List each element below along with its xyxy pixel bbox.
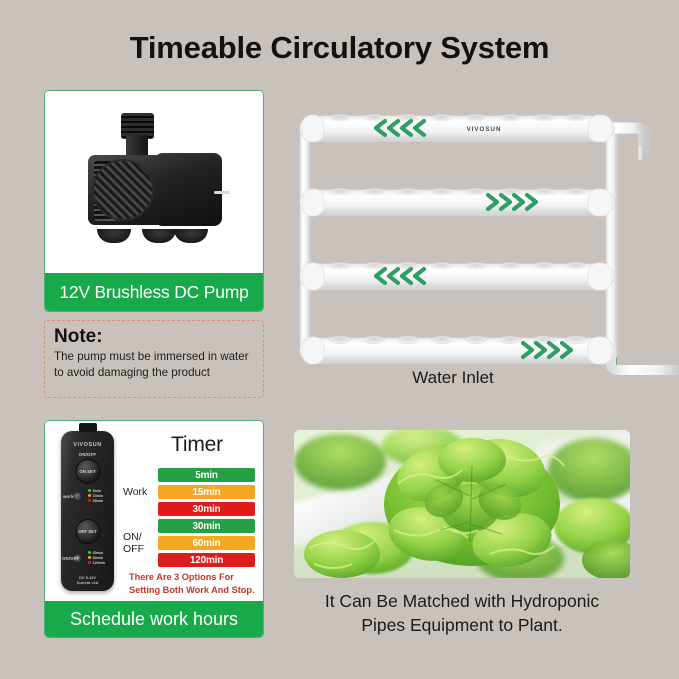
pump-power-cord xyxy=(214,191,230,194)
timer-option-badge: 30min xyxy=(158,519,255,533)
note-box: Note: The pump must be immersed in water… xyxy=(44,320,264,398)
pump-suction-cup xyxy=(174,229,208,243)
led-red-dot xyxy=(88,561,91,564)
grow-pipe-row xyxy=(300,188,614,216)
timer-option-badge: 15min xyxy=(158,485,255,499)
left-riser-pipe xyxy=(300,126,310,358)
pump-image xyxy=(45,91,263,273)
timer-heading: Timer xyxy=(141,433,253,457)
lettuce-photo xyxy=(294,430,630,578)
timer-group-onoff: ON/ OFF 30min 60min 120min xyxy=(123,519,255,567)
page-title: Timeable Circulatory System xyxy=(0,30,679,66)
pump-illustration xyxy=(64,107,244,257)
timer-option-badge: 30min xyxy=(158,502,255,516)
pipe-end-cap xyxy=(588,337,612,364)
pipe-end-cap xyxy=(588,189,612,216)
work-knob[interactable] xyxy=(74,493,81,500)
grow-pipe-row: VIVOSUN xyxy=(300,114,614,142)
timer-group-label: Work xyxy=(123,486,153,498)
led-orange-dot xyxy=(88,494,91,497)
timer-option-badge: 5min xyxy=(158,468,255,482)
right-riser-pipe xyxy=(606,122,617,360)
pipe-end-cap xyxy=(302,337,324,364)
photo-caption-line1: It Can Be Matched with Hydroponic xyxy=(288,590,636,614)
on-set-button[interactable]: ON SET xyxy=(75,459,100,484)
device-plug xyxy=(79,423,97,432)
timer-content: VIVOSUN ON/OFF ON SET work 5min 15min 30… xyxy=(45,421,263,601)
outlet-tube xyxy=(611,350,679,370)
onoff-led-group: 30min 60min 120min xyxy=(88,550,110,565)
led-orange-dot xyxy=(88,556,91,559)
photo-caption: It Can Be Matched with Hydroponic Pipes … xyxy=(288,590,636,637)
pump-suction-cup xyxy=(142,229,176,243)
grow-pipe-row xyxy=(300,262,614,290)
pump-caption-bar: 12V Brushless DC Pump xyxy=(45,273,263,311)
led-green-dot xyxy=(88,551,91,554)
timer-group-label: ON/ OFF xyxy=(123,531,153,555)
work-led-label: 30min xyxy=(93,499,103,503)
timer-option-badge: 120min xyxy=(158,553,255,567)
device-brand-label: VIVOSUN xyxy=(61,442,114,448)
pipe-end-cap xyxy=(302,263,324,290)
timer-caption-bar: Schedule work hours xyxy=(45,601,263,637)
infographic-page: Timeable Circulatory System 12V Brushles… xyxy=(0,0,679,679)
work-led-label: 5min xyxy=(93,489,101,493)
timer-option-badge: 60min xyxy=(158,536,255,550)
hydroponic-pipe-diagram: VIVOSUN xyxy=(288,98,679,390)
timer-card: VIVOSUN ON/OFF ON SET work 5min 15min 30… xyxy=(44,420,264,638)
note-body-text: The pump must be immersed in water to av… xyxy=(54,349,254,380)
off-set-button[interactable]: OFF SET xyxy=(75,519,100,544)
photo-caption-line2: Pipes Equipment to Plant. xyxy=(288,614,636,638)
timer-controller-device: VIVOSUN ON/OFF ON SET work 5min 15min 30… xyxy=(61,431,114,591)
timer-group-work: Work 5min 15min 30min xyxy=(123,468,255,516)
pipe-brand-label: VIVOSUN xyxy=(467,126,502,133)
device-onoff-knob-label: ON/OFF xyxy=(62,556,79,561)
timer-option-list: 5min 15min 30min xyxy=(158,468,255,516)
pipe-end-cap xyxy=(588,263,612,290)
timer-footnote: There Are 3 Options For Setting Both Wor… xyxy=(129,571,255,598)
pump-card: 12V Brushless DC Pump xyxy=(44,90,264,312)
pump-intake-grille xyxy=(92,159,154,221)
timer-option-list: 30min 60min 120min xyxy=(158,519,255,567)
onoff-led-label: 30min xyxy=(93,551,103,555)
water-inlet-label: Water Inlet xyxy=(288,368,618,388)
device-work-label: work xyxy=(63,494,74,499)
device-spec: DC 5-12V Current <2A xyxy=(61,576,114,586)
onoff-led-label: 60min xyxy=(93,556,103,560)
note-heading: Note: xyxy=(54,327,254,347)
led-red-dot xyxy=(88,499,91,502)
pump-suction-cup xyxy=(97,229,131,243)
pipe-end-cap xyxy=(588,115,612,142)
device-spec-current: Current <2A xyxy=(61,581,114,586)
work-led-group: 5min 15min 30min xyxy=(88,488,110,503)
pipe-end-cap xyxy=(302,115,324,142)
pipe-end-cap xyxy=(302,189,324,216)
led-green-dot xyxy=(88,489,91,492)
grow-pipe-row xyxy=(300,336,614,364)
device-onoff-label: ON/OFF xyxy=(79,452,96,457)
work-led-label: 15min xyxy=(93,494,103,498)
onoff-led-label: 120min xyxy=(93,561,105,565)
